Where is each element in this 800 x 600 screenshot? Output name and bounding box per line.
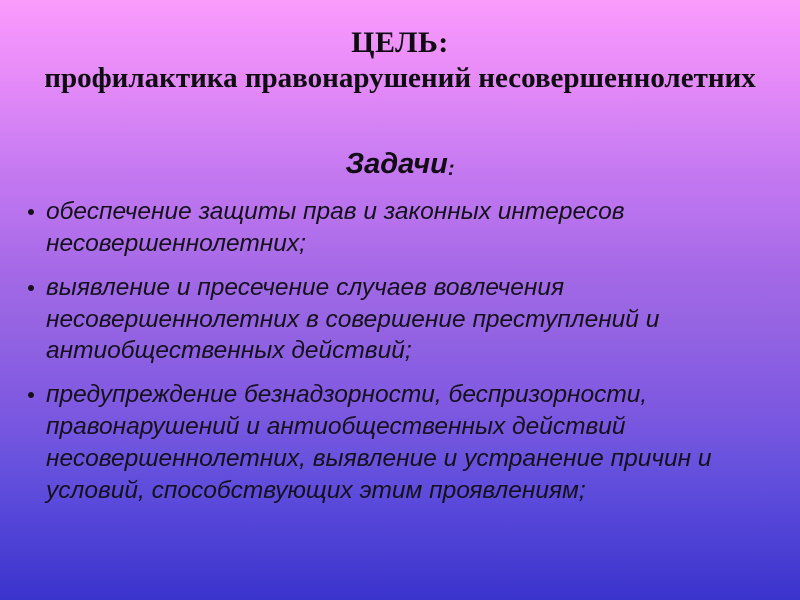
slide-title-line-1: ЦЕЛЬ: [0,26,800,60]
list-item: обеспечение защиты прав и законных интер… [20,196,760,260]
tasks-subheading: Задачи: [0,148,800,181]
list-item: выявление и пресечение случаев вовлечени… [20,272,746,368]
tasks-subheading-colon: : [448,158,455,180]
tasks-bullet-list: обеспечение защиты прав и законных интер… [20,196,760,519]
tasks-subheading-text: Задачи [345,148,447,180]
slide-title: ЦЕЛЬ: профилактика правонарушений несове… [0,26,800,94]
slide-title-line-2: профилактика правонарушений несовершенно… [0,62,800,94]
list-item: предупреждение безнадзорности, беспризор… [20,379,746,506]
presentation-slide: ЦЕЛЬ: профилактика правонарушений несове… [0,0,800,600]
